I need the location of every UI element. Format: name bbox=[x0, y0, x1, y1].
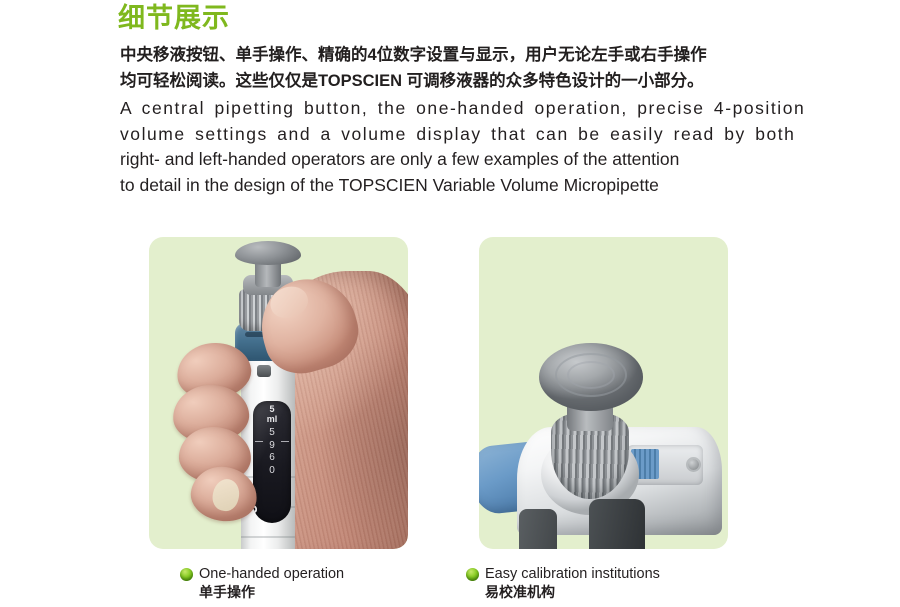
photo-panel-one-handed-operation: 5 ml 5 9 6 0 5 bbox=[149, 237, 408, 549]
plunger-cap bbox=[235, 241, 301, 265]
volume-digit: 9 bbox=[253, 440, 291, 453]
caption-chinese: 单手操作 bbox=[199, 584, 480, 600]
volume-digit: 5 bbox=[253, 427, 291, 440]
volume-unit-suffix: ml bbox=[267, 414, 278, 424]
english-intro-line-1: A central pipetting button, the one-hand… bbox=[120, 96, 784, 122]
english-intro-line-2: volume settings and a volume display tha… bbox=[120, 122, 784, 148]
page-title: 细节展示 bbox=[118, 2, 230, 36]
english-intro-line-3: right- and left-handed operators are onl… bbox=[120, 147, 784, 173]
caption-one-handed-operation: One-handed operation 单手操作 bbox=[180, 566, 480, 600]
pipette-side-stud bbox=[257, 365, 271, 377]
english-intro-line-4: to detail in the design of the TOPSCIEN … bbox=[120, 173, 784, 199]
volume-digit: 6 bbox=[253, 452, 291, 465]
calibration-head-illustration bbox=[479, 237, 728, 549]
green-bullet-icon bbox=[180, 568, 193, 581]
volume-unit-value: 5 bbox=[269, 404, 274, 414]
green-bullet-icon bbox=[466, 568, 479, 581]
dark-grip-side bbox=[519, 509, 557, 549]
photo-pipette-calibration-head bbox=[479, 237, 728, 549]
caption-row: Easy calibration institutions bbox=[466, 566, 766, 582]
caption-row: One-handed operation bbox=[180, 566, 480, 582]
calibration-screw bbox=[688, 459, 699, 470]
volume-display-window: 5 ml 5 9 6 0 5 bbox=[253, 401, 291, 523]
volume-digit: 0 bbox=[253, 465, 291, 478]
photo-hand-holding-pipette: 5 ml 5 9 6 0 5 bbox=[149, 237, 408, 549]
caption-english: Easy calibration institutions bbox=[485, 566, 660, 582]
caption-english: One-handed operation bbox=[199, 566, 344, 582]
barrel-ring bbox=[241, 536, 295, 538]
photo-panel-easy-calibration bbox=[479, 237, 728, 549]
english-intro-paragraph: A central pipetting button, the one-hand… bbox=[120, 96, 784, 198]
chinese-intro-line-1: 中央移液按钮、单手操作、精确的4位数字设置与显示，用户无论左手或右手操作 bbox=[120, 42, 790, 68]
volume-digit-column: 5 9 6 0 bbox=[253, 427, 291, 477]
chinese-intro-line-2: 均可轻松阅读。这些仅仅是TOPSCIEN 可调移液器的众多特色设计的一小部分。 bbox=[120, 68, 790, 94]
dark-grip-base bbox=[589, 499, 645, 549]
plunger-knob bbox=[539, 343, 643, 411]
chinese-intro-paragraph: 中央移液按钮、单手操作、精确的4位数字设置与显示，用户无论左手或右手操作 均可轻… bbox=[120, 42, 790, 94]
volume-unit-label: 5 ml bbox=[253, 405, 291, 424]
caption-chinese: 易校准机构 bbox=[485, 584, 766, 600]
caption-easy-calibration: Easy calibration institutions 易校准机构 bbox=[466, 566, 766, 600]
hand-illustration: 5 ml 5 9 6 0 5 bbox=[175, 251, 408, 549]
